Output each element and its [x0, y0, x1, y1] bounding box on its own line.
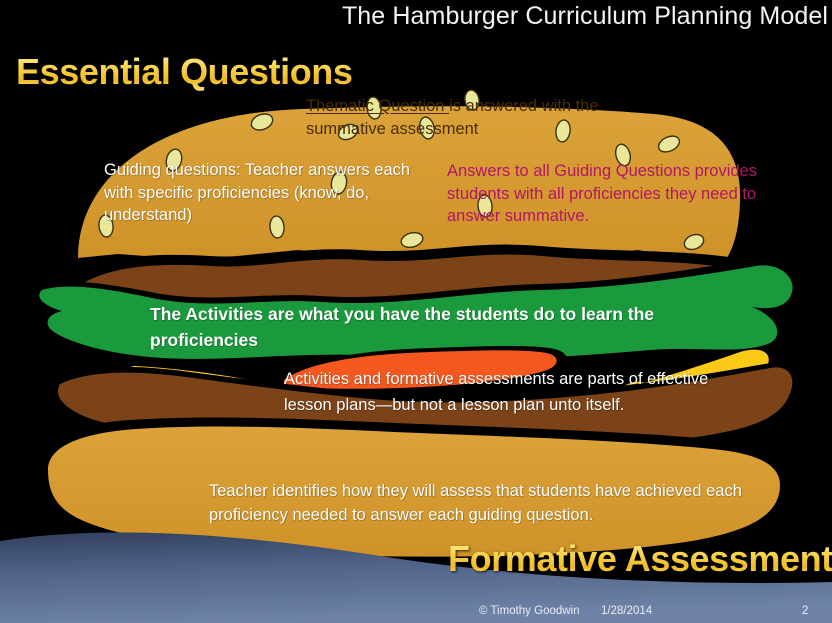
slide: The Hamburger Curriculum Planning Model …: [0, 0, 832, 623]
callout-guiding-questions: Guiding questions: Teacher answers each …: [104, 159, 434, 227]
heading-essential-questions: Essential Questions: [16, 52, 353, 92]
footer-page-number: 2: [802, 604, 808, 618]
thematic-question-underlined: Thematic Question: [306, 97, 449, 115]
heading-formative-assessment: Formative Assessment: [448, 539, 832, 579]
footer-date: 1/28/2014: [601, 604, 652, 618]
footer-copyright: © Timothy Goodwin: [479, 604, 580, 618]
callout-activities: The Activities are what you have the stu…: [150, 301, 670, 353]
callout-teacher-identifies: Teacher identifies how they will assess …: [209, 480, 754, 527]
callout-answers-to-guiding: Answers to all Guiding Questions provide…: [447, 160, 767, 228]
slide-title: The Hamburger Curriculum Planning Model: [300, 1, 828, 31]
callout-formative-assessments: Activities and formative assessments are…: [284, 366, 714, 418]
callout-thematic-question: Thematic Question is answered with the s…: [306, 95, 616, 140]
